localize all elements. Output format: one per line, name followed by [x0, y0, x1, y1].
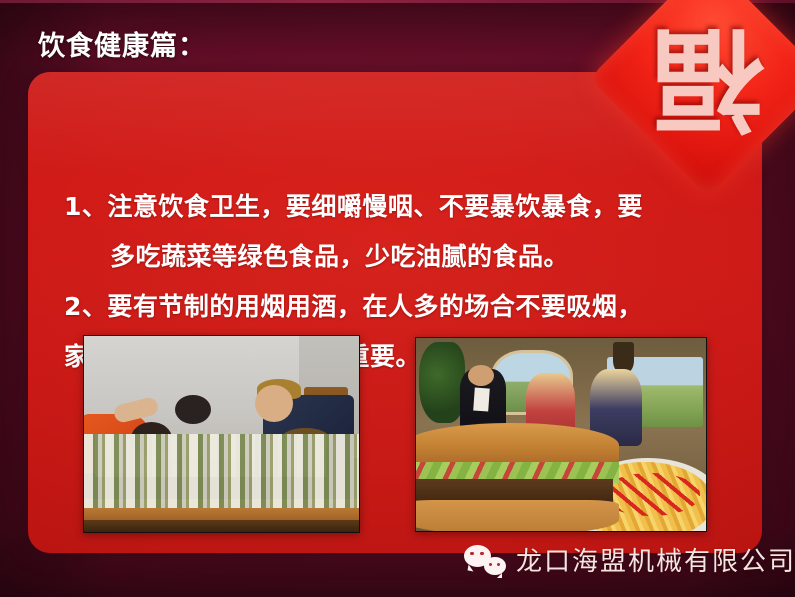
- photo-2-canvas: [416, 338, 706, 531]
- wechat-icon: [464, 545, 506, 575]
- floor: [84, 520, 359, 532]
- potted-plant: [419, 342, 465, 423]
- wechat-dot-3: [489, 563, 492, 566]
- page-title: 饮食健康篇：: [38, 24, 206, 63]
- wechat-dot-2: [480, 552, 484, 556]
- advice-line-3: 2、要有节制的用烟用酒，在人多的场合不要吸烟，: [64, 282, 724, 332]
- wechat-account-footer: 龙口海盟机械有限公司: [464, 541, 795, 578]
- advice-line-2: 多吃蔬菜等绿色食品，少吃油腻的食品。: [64, 232, 724, 282]
- photo-women-eating-giant-burger: [415, 337, 707, 532]
- wechat-dot-4: [497, 563, 500, 566]
- beer-cans-front-row: [84, 434, 359, 508]
- wechat-dot-1: [470, 552, 474, 556]
- fu-character-icon: 福: [624, 0, 792, 162]
- wechat-account-name: 龙口海盟机械有限公司: [516, 541, 795, 578]
- head-dark-hair-center: [175, 395, 211, 424]
- advice-line-1: 1、注意饮食卫生，要细嚼慢咽、不要暴饮暴食，要: [64, 182, 724, 232]
- burger-bottom-bun: [415, 500, 619, 532]
- waiter-shirt-front: [473, 388, 489, 412]
- head-blond-upper: [255, 385, 294, 422]
- photo-1-canvas: [84, 336, 359, 532]
- wechat-bubble-small: [484, 557, 506, 575]
- photo-drunk-people-beer-cans: [83, 335, 360, 533]
